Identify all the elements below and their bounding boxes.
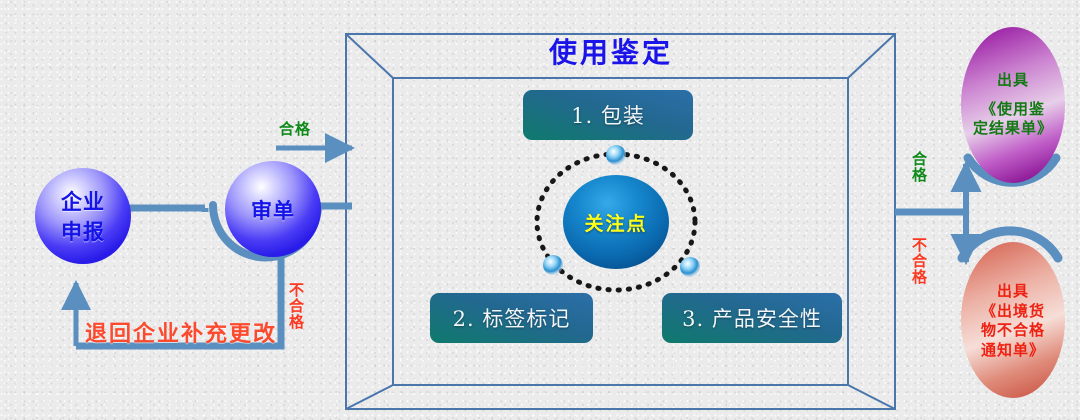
edge-label-review-fail: 不 合 格 [287,283,307,330]
edge-label-return-note: 退回企业补充更改 [85,323,277,346]
orbit-node-top [606,145,626,165]
diagram-canvas: 企业 申报 审单 使用鉴定 1. 包装 2. 标签标记 3. 产品安全性 关注点… [0,0,1080,420]
card-2-label-marking [430,293,593,343]
node-declare-sphere [35,168,131,264]
page-title: 使用鉴定 [549,38,673,67]
orbit-node-right [680,257,700,277]
outcome-pass-oval [961,27,1065,183]
node-focus-ellipse [563,175,669,269]
diagram-vector-layer [0,0,1080,420]
edge-label-review-fail-3: 格 [287,315,307,331]
card-1-packaging [523,90,693,140]
edge-label-out-pass: 合格 [911,151,926,183]
orbit-node-left [543,255,563,275]
outcome-fail-oval [961,242,1065,398]
edge-label-out-fail: 不合格 [911,237,926,285]
edge-label-review-pass: 合格 [279,122,311,138]
node-review-sphere [225,161,321,257]
card-3-product-safety [662,293,842,343]
